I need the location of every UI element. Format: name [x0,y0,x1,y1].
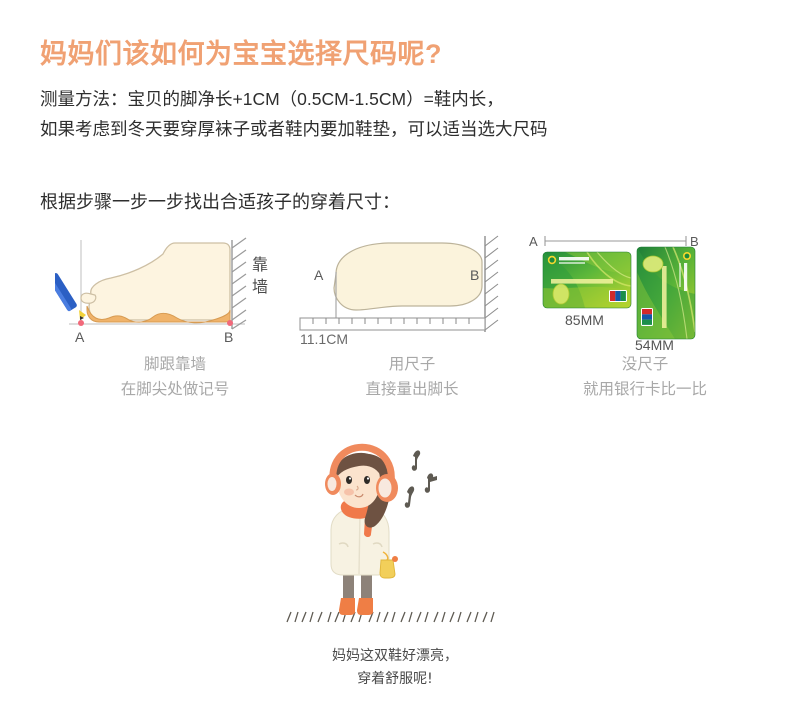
label-a: A [75,329,85,345]
label-b: B [470,267,479,283]
label-a: A [314,267,324,283]
ground-hatch-marks [287,612,494,622]
foot-shape [89,243,230,320]
caption-line-1: 脚跟靠墙 [55,352,295,377]
step-3-caption: 没尺子 就用银行卡比一比 [525,352,765,402]
caption-line-1: 没尺子 [525,352,765,377]
wall-hatching [485,236,498,330]
footprint-shape [334,243,482,310]
ruler [300,318,485,330]
wall-label-2: 墙 [252,278,268,296]
bank-card-horizontal [543,252,631,308]
step-bank-card-compare: A B [525,232,765,407]
card-width-label: 85MM [565,312,604,328]
measure-value: 11.1CM [300,331,348,347]
steps-heading: 根据步骤一步一步找出合适孩子的穿着尺寸： [40,188,400,214]
foot-side-view-figure: A B 靠 墙 [55,232,295,347]
page-title: 妈妈们该如何为宝宝选择尺码呢? [40,32,442,71]
bank-card-vertical [637,247,695,339]
music-notes-icon [405,450,437,507]
diagram-row: A B 靠 墙 脚跟靠墙 在脚尖处做记号 [0,232,790,407]
step-2-caption: 用尺子 直接量出脚长 [292,352,532,402]
measurement-intro: 测量方法：宝贝的脚净长+1CM（0.5CM-1.5CM）=鞋内长， 如果考虑到冬… [40,84,548,144]
card-height-label: 54MM [635,337,674,353]
cheek-blush [344,489,354,496]
quote-line-1: 妈妈这双鞋好漂亮， [0,645,790,668]
eye-right [364,476,370,484]
wall-hatching [232,238,246,329]
quote-line-2: 穿着舒服呢! [0,668,790,691]
illustration-block: 妈妈这双鞋好漂亮， 穿着舒服呢! [0,440,790,710]
label-a: A [529,234,538,249]
point-b-marker [227,320,233,326]
step-heel-to-wall: A B 靠 墙 脚跟靠墙 在脚尖处做记号 [55,232,295,407]
intro-line-1: 测量方法：宝贝的脚净长+1CM（0.5CM-1.5CM）=鞋内长， [40,84,548,114]
coat-seam [359,512,360,574]
step-1-caption: 脚跟靠墙 在脚尖处做记号 [55,352,295,402]
wall-label-1: 靠 [252,256,268,274]
intro-line-2: 如果考虑到冬天要穿厚袜子或者鞋内要加鞋垫，可以适当选大尺码 [40,114,548,144]
foot-top-view-figure: A B 11.1CM [292,232,532,347]
point-a-marker [78,320,84,326]
girl-illustration [285,440,505,645]
illustration-quote: 妈妈这双鞋好漂亮， 穿着舒服呢! [0,645,790,691]
step-ruler-measure: A B 11.1CM 用尺子 直接量出脚长 [292,232,532,407]
caption-line-2: 直接量出脚长 [292,377,532,402]
bank-card-figure: A B [525,232,765,347]
caption-line-2: 在脚尖处做记号 [55,377,295,402]
boots [339,598,373,615]
caption-line-2: 就用银行卡比一比 [525,377,765,402]
toe-shape [81,293,96,303]
eye-left [346,476,352,484]
caption-line-1: 用尺子 [292,352,532,377]
label-b: B [224,329,233,345]
